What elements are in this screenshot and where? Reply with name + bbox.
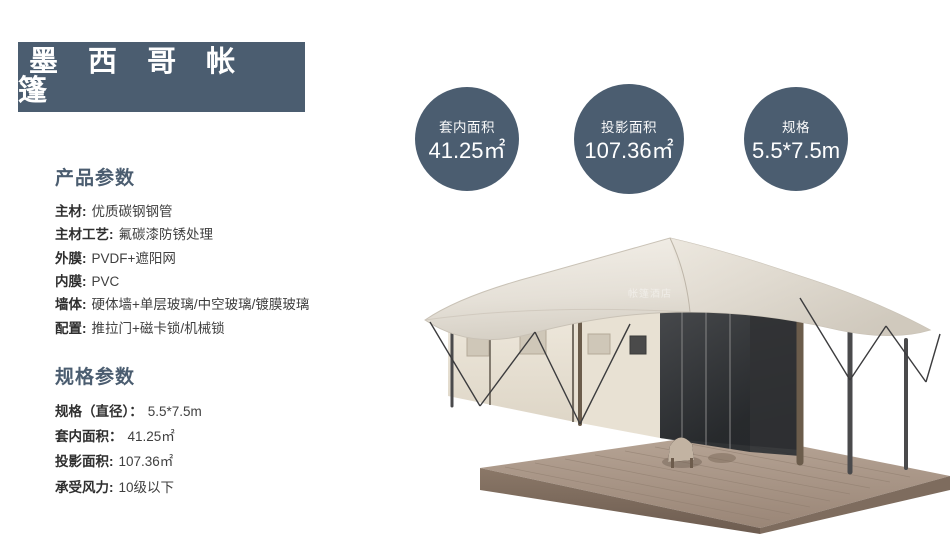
spec-value: 107.36㎡: [119, 450, 174, 473]
spec-label: 投影面积:: [55, 450, 114, 473]
stat-label: 规格: [782, 116, 810, 136]
stat-value: 41.25㎡: [428, 140, 505, 162]
spec-value: 氟碳漆防锈处理: [119, 224, 214, 245]
spec-label: 规格（直径）：: [55, 400, 143, 423]
stat-value: 5.5*7.5m: [752, 140, 840, 162]
spec-value: 10级以下: [119, 476, 175, 499]
spec-label: 外膜:: [55, 248, 87, 269]
stat-label: 投影面积: [601, 116, 657, 136]
stat-badge-dimensions: 规格 5.5*7.5m: [744, 87, 848, 191]
stat-label: 套内面积: [439, 116, 495, 136]
spec-label: 配置:: [55, 318, 87, 339]
spec-label: 墙体:: [55, 294, 87, 315]
spec-value: 硬体墙+单层玻璃/中空玻璃/镀膜玻璃: [92, 294, 310, 315]
stat-value: 107.36㎡: [584, 140, 673, 162]
spec-value: 41.25㎡: [128, 425, 175, 448]
spec-value: 5.5*7.5m: [148, 400, 202, 423]
slide-page: 墨 西 哥 帐 篷 产品参数 主材: 优质碳钢钢管 主材工艺: 氟碳漆防锈处理 …: [0, 0, 950, 534]
deck-platform: [480, 432, 950, 534]
spec-value: 优质碳钢钢管: [92, 201, 173, 222]
spec-value: 推拉门+磁卡锁/机械锁: [92, 318, 225, 339]
stat-badge-projected-area: 投影面积 107.36㎡: [574, 84, 684, 194]
spec-label: 套内面积：: [55, 425, 123, 448]
tent-rendering: 帐篷酒店: [330, 200, 950, 534]
page-title: 墨 西 哥 帐 篷: [18, 48, 305, 106]
spec-value: PVC: [92, 271, 120, 292]
spec-label: 承受风力:: [55, 476, 114, 499]
title-banner: 墨 西 哥 帐 篷: [18, 42, 305, 112]
spec-label: 内膜:: [55, 271, 87, 292]
spec-label: 主材:: [55, 201, 87, 222]
tent-illustration-svg: [330, 200, 950, 534]
spec-label: 主材工艺:: [55, 224, 114, 245]
sliding-glass-door: [660, 300, 800, 456]
spec-value: PVDF+遮阳网: [92, 248, 176, 269]
stat-badge-interior-area: 套内面积 41.25㎡: [415, 87, 519, 191]
section-heading-product: 产品参数: [55, 163, 385, 190]
